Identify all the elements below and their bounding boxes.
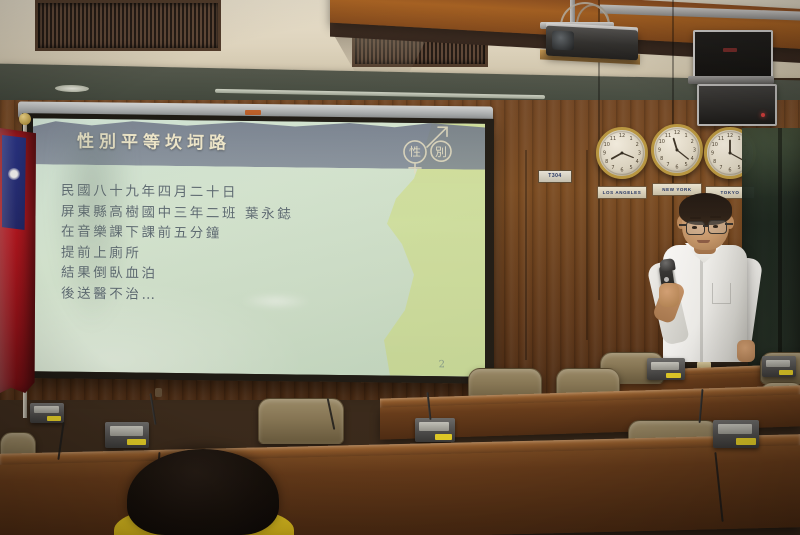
svg-text:1: 1 <box>684 133 687 139</box>
svg-text:性: 性 <box>409 145 421 159</box>
world-clock-los-angeles: 1212 345 678 91011 LOS ANGELES <box>596 127 648 199</box>
monitor-brand-logo <box>723 48 737 52</box>
desk-microphone-unit <box>30 403 64 423</box>
speaker-mouth <box>697 240 710 243</box>
door-plaque: T304 <box>538 170 572 183</box>
desk-microphone-unit <box>105 422 149 448</box>
clock-face: 1212 345 678 91011 <box>596 127 648 179</box>
window-mullion <box>778 128 782 368</box>
mic-unit-display <box>419 422 449 431</box>
world-clock-new-york: 1212 345 678 91011 NEW YORK <box>651 124 703 196</box>
mic-unit-display <box>651 362 679 370</box>
svg-text:4: 4 <box>636 159 639 165</box>
svg-text:2: 2 <box>691 139 694 145</box>
svg-text:12: 12 <box>674 130 680 136</box>
svg-text:10: 10 <box>604 142 610 148</box>
svg-text:6: 6 <box>675 165 678 171</box>
monitor-mount-arm <box>688 76 774 84</box>
flag-finial <box>19 113 31 125</box>
svg-text:7: 7 <box>719 165 722 171</box>
presentation-slide: 性別平等坎坷路 性 別 民國八十九年四月二十日 屏東縣高樹國中三年二班 葉永鋕 … <box>33 118 485 377</box>
shirt-button-placket <box>700 258 703 362</box>
mic-unit-label <box>736 438 756 445</box>
gender-symbol-icon: 性 別 <box>397 121 459 178</box>
svg-text:11: 11 <box>718 136 724 142</box>
clock-face: 1212 345 678 91011 <box>651 124 703 176</box>
speaker-left-hand <box>659 283 679 307</box>
mic-unit-display <box>110 426 143 436</box>
mic-unit-label <box>779 370 793 375</box>
speaker-right-hand <box>737 340 755 362</box>
mic-unit-label <box>666 373 681 378</box>
wall-monitor-upper <box>693 30 773 82</box>
screen-glare <box>241 293 311 310</box>
projection-screen: 性別平等坎坷路 性 別 民國八十九年四月二十日 屏東縣高樹國中三年二班 葉永鋕 … <box>33 118 485 377</box>
svg-text:6: 6 <box>620 168 623 174</box>
svg-text:8: 8 <box>605 159 608 165</box>
shirt-pocket <box>712 283 731 304</box>
slide-page-number: 2 <box>439 359 445 370</box>
svg-text:5: 5 <box>737 165 740 171</box>
power-led-icon <box>761 113 765 117</box>
svg-text:8: 8 <box>660 156 663 162</box>
svg-text:6: 6 <box>728 168 731 174</box>
eyeglasses-temple-arm <box>725 223 733 225</box>
desk-microphone-unit <box>647 358 685 380</box>
svg-text:1: 1 <box>629 136 632 142</box>
clock-label-los-angeles: LOS ANGELES <box>597 186 647 199</box>
conference-room-photo: T304 1212 345 678 91011 <box>0 0 800 535</box>
microphone-button <box>664 277 669 282</box>
housing-indicator <box>245 110 261 115</box>
svg-text:3: 3 <box>638 151 641 157</box>
door-edge <box>525 150 527 360</box>
clock-hands-icon: 1212 345 678 91011 <box>651 124 703 176</box>
svg-text:9: 9 <box>658 148 661 154</box>
svg-text:12: 12 <box>619 133 625 139</box>
svg-text:4: 4 <box>691 156 694 162</box>
screen-cast-shadow <box>49 128 135 329</box>
desk-microphone-unit <box>762 356 796 377</box>
mic-unit-display <box>718 424 752 434</box>
svg-text:7: 7 <box>611 165 614 171</box>
microphone-capsule-icon <box>155 388 162 397</box>
svg-text:9: 9 <box>711 151 714 157</box>
svg-text:1: 1 <box>737 136 740 142</box>
mic-unit-label <box>435 434 452 440</box>
speaker-brow-left <box>690 217 701 219</box>
svg-text:10: 10 <box>712 142 718 148</box>
microphone-head-icon <box>659 258 676 272</box>
mic-unit-display <box>34 406 59 413</box>
svg-text:12: 12 <box>727 133 733 139</box>
mic-unit-label <box>127 439 146 445</box>
svg-text:7: 7 <box>666 162 669 168</box>
door-edge <box>586 150 588 340</box>
svg-text:3: 3 <box>693 148 696 154</box>
svg-text:9: 9 <box>603 151 606 157</box>
speaker-eye-left <box>692 226 697 229</box>
projector-lens-icon <box>552 30 574 50</box>
speaker-brow-right <box>710 216 721 218</box>
mic-unit-label <box>47 416 61 421</box>
svg-text:別: 別 <box>435 145 447 159</box>
svg-text:5: 5 <box>629 165 632 171</box>
flag-shading <box>0 128 36 393</box>
desk-microphone-unit <box>415 418 455 442</box>
svg-text:2: 2 <box>636 142 639 148</box>
svg-text:8: 8 <box>713 159 716 165</box>
desk-microphone-unit <box>713 420 759 448</box>
wall-monitor-lower <box>697 84 777 126</box>
eyeglasses-bridge <box>703 225 708 227</box>
svg-text:10: 10 <box>659 139 665 145</box>
speaker-eye-right <box>713 225 718 228</box>
svg-text:11: 11 <box>665 133 671 139</box>
svg-text:5: 5 <box>684 162 687 168</box>
glass-reflection <box>742 128 800 198</box>
svg-text:11: 11 <box>610 136 616 142</box>
clock-hands-icon: 1212 345 678 91011 <box>596 127 648 179</box>
air-vent-left-icon <box>35 0 221 51</box>
eyeglasses-temple-arm <box>679 224 687 226</box>
mic-unit-display <box>766 360 790 367</box>
